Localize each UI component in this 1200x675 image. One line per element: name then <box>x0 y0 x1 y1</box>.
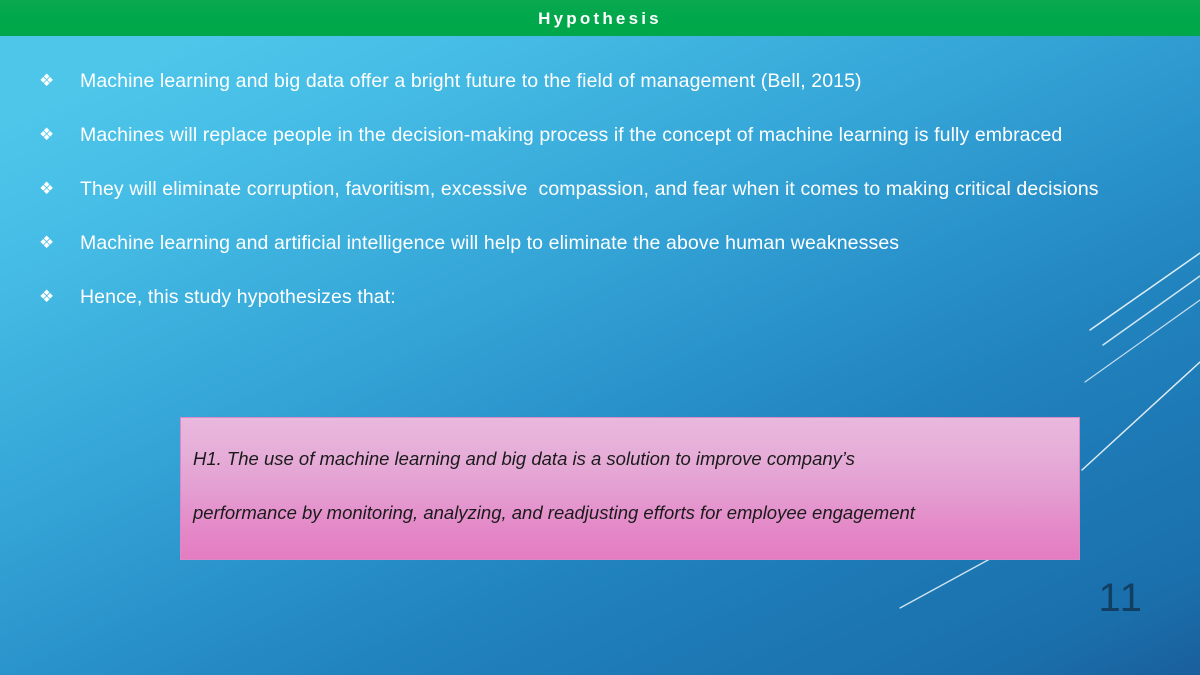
list-item: ❖ Machines will replace people in the de… <box>30 108 1180 162</box>
diamond-bullet-icon: ❖ <box>30 162 80 216</box>
hypothesis-line-1: H1. The use of machine learning and big … <box>193 432 1063 486</box>
list-item-text: Hence, this study hypothesizes that: <box>80 270 1180 324</box>
hypothesis-line-2: performance by monitoring, analyzing, an… <box>193 486 1063 540</box>
page-title: Hypothesis <box>538 10 662 27</box>
list-item: ❖ Machine learning and artificial intell… <box>30 216 1180 270</box>
list-item-text: Machines will replace people in the deci… <box>80 108 1180 162</box>
list-item: ❖ They will eliminate corruption, favori… <box>30 162 1180 216</box>
diamond-bullet-icon: ❖ <box>30 54 80 108</box>
slide-title-bar: Hypothesis <box>0 0 1200 36</box>
list-item: ❖ Machine learning and big data offer a … <box>30 54 1180 108</box>
list-item-text: Machine learning and big data offer a br… <box>80 54 1180 108</box>
bullet-list: ❖ Machine learning and big data offer a … <box>30 54 1180 324</box>
diamond-bullet-icon: ❖ <box>30 216 80 270</box>
list-item-text: They will eliminate corruption, favoriti… <box>80 162 1180 216</box>
presentation-slide: Hypothesis ❖ Machine learning and big da… <box>0 0 1200 675</box>
diamond-bullet-icon: ❖ <box>30 108 80 162</box>
list-item-text: Machine learning and artificial intellig… <box>80 216 1180 270</box>
list-item: ❖ Hence, this study hypothesizes that: <box>30 270 1180 324</box>
page-number: 11 <box>1098 578 1144 618</box>
diamond-bullet-icon: ❖ <box>30 270 80 324</box>
hypothesis-callout-box: H1. The use of machine learning and big … <box>180 417 1080 560</box>
